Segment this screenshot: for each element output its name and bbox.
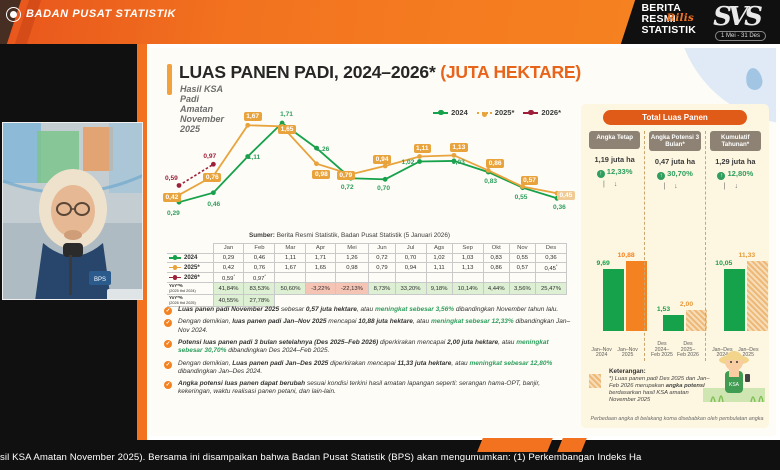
legend-label: 2024	[451, 108, 468, 117]
bullet-text: Dengan demikian, Luas panen padi Jan–Des…	[178, 360, 573, 376]
bullet-segment: , atau	[498, 339, 516, 346]
table-cell: 0,59*	[213, 273, 244, 283]
keterangan-segment: angka potensi	[666, 383, 705, 389]
chart-label-2026-Feb: 0,97	[203, 153, 216, 160]
bar-axis-label: Jan–Nov2024	[590, 348, 614, 359]
water-drop-icon	[744, 67, 764, 91]
table-yoy-cell	[395, 295, 426, 307]
brs-wordmark: BERITA RESMI STATISTIK Rilis	[642, 3, 697, 36]
source-note: Sumber: Berita Resmi Statistik, Badan Pu…	[249, 232, 450, 239]
total-column: Kumulatif Tahunan*1,29 juta ha↑12,80%|↓1…	[705, 131, 765, 361]
slide-content: LUAS PANEN PADI, 2024–2026* (JUTA HEKTAR…	[149, 48, 776, 436]
bullet-segment: diperkirakan mencapai	[328, 360, 397, 367]
table-cell: 0,79	[369, 263, 395, 273]
bar-axis-labels: Jan–Nov2024Jan–Nov2025	[585, 348, 644, 359]
bar-group: 9,6910,88	[593, 259, 637, 331]
bullet-segment: , atau	[413, 318, 431, 325]
column-connector-ticks: |↓	[706, 183, 765, 190]
legend-item-2025: 2025*	[477, 108, 515, 117]
table-col-header: Jul	[395, 244, 426, 254]
table-cell	[426, 273, 452, 283]
table-yoy-row: YoY*%(2026 thd 2025)40,55%27,78%	[167, 295, 567, 307]
column-connector-ticks: |↓	[585, 181, 644, 188]
table-yoy-cell: 83,53%	[244, 283, 275, 295]
chart-label-2025-Apr: 1,65	[278, 125, 296, 134]
table-yoy-cell: 41,84%	[213, 283, 244, 295]
total-columns: Angka Tetap1,19 juta ha↑12,33%|↓9,6910,8…	[585, 131, 765, 361]
table-yoy-cell	[509, 295, 535, 307]
table-yoy-label: YoY*%(2025 thd 2024)	[167, 283, 213, 295]
table-cell	[335, 273, 369, 283]
chart-legend: 20242025*2026*	[429, 106, 565, 119]
chart-label-2024-Mei: 1,26	[316, 146, 329, 153]
table-yoy-cell: 25,47%	[535, 283, 566, 295]
chart-label-2024-Jun: 0,72	[341, 184, 354, 191]
column-bar-chart: 1,532,00	[645, 259, 704, 331]
table-cell	[275, 273, 306, 283]
table-cell: 0,98	[335, 263, 369, 273]
date-badge: 1 Mei - 31 Des	[715, 31, 766, 41]
arrow-up-icon: ↑	[717, 172, 725, 180]
table-col-header: Apr	[306, 244, 335, 254]
bps-logo-icon	[6, 7, 21, 22]
column-bar-chart: 10,0511,33	[706, 259, 765, 331]
chart-label-2025-Okt: 0,86	[486, 159, 504, 168]
bar-value-label: 2,00	[680, 301, 693, 308]
column-header: Kumulatif Tahunan*	[710, 131, 761, 151]
bullet-segment: mencapai	[327, 318, 359, 325]
table-yoy-cell	[335, 295, 369, 307]
table-cell: 1,11	[426, 263, 452, 273]
total-column: Angka Potensi 3 Bulan*0,47 juta ha↑30,70…	[644, 131, 704, 361]
bullet-segment: dibandingkan Jan–Des 2024.	[178, 368, 262, 375]
table-col-header: Nov	[509, 244, 535, 254]
banner-orange-block	[0, 0, 660, 44]
bullet-segment: dibandingkan Des 2024–Feb 2025.	[226, 347, 329, 354]
table-cell	[306, 273, 335, 283]
bullet-segment: sebesar	[279, 306, 306, 313]
bullet-segment: luas panen padi Jan–Nov 2025	[232, 318, 326, 325]
chart-label-2024-Okt: 0,83	[484, 178, 497, 185]
table-yoy-cell	[369, 295, 395, 307]
keterangan-segment: berdasarkan hasil KSA amatan November 20…	[609, 390, 689, 403]
column-connector-ticks: |↓	[645, 183, 704, 190]
svs-logo-icon: SVS	[710, 4, 762, 30]
source-label: Sumber:	[249, 232, 275, 239]
table-cell: 1,65	[306, 263, 335, 273]
table-yoy-cell: -22,13%	[335, 283, 369, 295]
column-bar-chart: 9,6910,88	[585, 259, 644, 331]
chart-label-2025-Jul: 0,94	[373, 155, 391, 164]
legend-swatch-icon	[477, 112, 492, 114]
check-icon: ✓	[164, 319, 172, 327]
bullet-segment: 2,00 juta hektare	[447, 339, 498, 346]
table-body: 20240,290,461,111,711,260,720,701,021,03…	[167, 253, 567, 307]
arrow-up-icon: ↑	[597, 170, 605, 178]
presentation-slide: LUAS PANEN PADI, 2024–2026* (JUTA HEKTAR…	[145, 44, 780, 440]
check-icon: ✓	[164, 361, 172, 369]
list-item: ✓Dengan demikian, Luas panen padi Jan–De…	[163, 360, 573, 376]
bullet-text: Luas panen padi November 2025 sebesar 0,…	[178, 306, 573, 314]
speaker-video-feed[interactable]: BPS	[2, 122, 143, 300]
source-text: Berita Resmi Statistik, Badan Pusat Stat…	[277, 232, 450, 239]
data-table: JanFebMarAprMeiJunJulAgsSepOktNovDes 202…	[167, 243, 567, 307]
table-yoy-cell: 4,44%	[483, 283, 509, 295]
table-row: 2025*0,420,761,671,650,980,790,941,111,1…	[167, 263, 567, 273]
bar-value-label: 10,05	[715, 260, 732, 267]
chart-label-2024-Ags: 1,02	[402, 159, 415, 166]
bullet-segment: Potensi luas panen padi 3 bulan setelahn…	[178, 339, 378, 346]
panel-footnote: Perbedaan angka di belakang koma disebab…	[589, 416, 765, 422]
bullet-segment: Angka potensi luas panen dapat berubah	[178, 380, 305, 387]
chart-label-2025-Ags: 1,11	[414, 144, 431, 153]
table-yoy-row: YoY*%(2025 thd 2024)41,84%83,53%50,60%-3…	[167, 283, 567, 295]
chart-label-2025-Nov: 0,57	[521, 176, 539, 185]
bar-group: 1,532,00	[653, 259, 697, 331]
table-cell: 1,71	[306, 253, 335, 263]
table-col-header: Ags	[426, 244, 452, 254]
bullet-segment: , atau	[451, 360, 469, 367]
organization-name: BADAN PUSAT STATISTIK	[26, 8, 176, 20]
keterangan-text: *) Luas panen padi Des 2025 dan Jan–Feb …	[609, 376, 717, 404]
chart-canvas	[167, 104, 567, 232]
table-col-header: Mar	[275, 244, 306, 254]
table-yoy-cell	[452, 295, 483, 307]
line-chart: 20242025*2026* 0,290,461,111,711,260,720…	[167, 104, 567, 232]
table-cell: 1,02	[426, 253, 452, 263]
svg-text:BPS: BPS	[94, 277, 106, 283]
table-yoy-cell: 3,56%	[509, 283, 535, 295]
table-cell: 0,86	[483, 263, 509, 273]
chart-label-2024-Nov: 0,55	[515, 194, 528, 201]
title-main-text: LUAS PANEN PADI, 2024–2026*	[179, 62, 440, 82]
total-column: Angka Tetap1,19 juta ha↑12,33%|↓9,6910,8…	[585, 131, 644, 361]
column-percent: ↑30,70%	[645, 169, 704, 180]
bullet-segment: Dengan demikian,	[178, 318, 232, 325]
list-item: ✓Luas panen padi November 2025 sebesar 0…	[163, 306, 573, 314]
video-frame-content: BPS	[3, 123, 143, 300]
column-percent: ↑12,33%	[585, 167, 644, 178]
list-item: ✓Potensi luas panen padi 3 bulan setelah…	[163, 339, 573, 355]
bar-axis-label: Jan–Nov2025	[616, 348, 640, 359]
table-row: 2026*0,59*0,97*	[167, 273, 567, 283]
title-highlight-text: (JUTA HEKTARE)	[440, 62, 581, 82]
list-item: ✓Angka potensi luas panen dapat berubah …	[163, 380, 573, 396]
legend-item-2024: 2024	[433, 108, 468, 117]
table-row-label: 2026*	[167, 273, 213, 283]
check-icon: ✓	[164, 307, 172, 315]
table-cell: 1,03	[452, 253, 483, 263]
table-cell: 0,83	[483, 253, 509, 263]
bullet-segment: dibandingkan November tahun lalu.	[454, 306, 558, 313]
bar-group: 10,0511,33	[713, 259, 757, 331]
table-yoy-cell: 27,78%	[244, 295, 275, 307]
table-cell: 0,94	[395, 263, 426, 273]
column-value: 0,47 juta ha	[645, 157, 704, 166]
bar: 9,69	[593, 269, 614, 331]
total-panel: Total Luas Panen Angka Tetap1,19 juta ha…	[581, 104, 769, 428]
top-banner: BADAN PUSAT STATISTIK BERITA RESMI STATI…	[0, 0, 780, 44]
legend-label: 2026*	[541, 108, 561, 117]
bullet-text: Angka potensi luas panen dapat berubah s…	[178, 380, 573, 396]
bullet-segment: Dengan demikian,	[178, 360, 232, 367]
legend-swatch-icon	[523, 112, 538, 114]
table-col-header: Sep	[452, 244, 483, 254]
table-col-header: Jan	[213, 244, 244, 254]
table-cell: 0,55	[509, 253, 535, 263]
table-yoy-cell	[483, 295, 509, 307]
left-dark-block-top	[0, 44, 145, 122]
chart-label-2024-Mar: 1,11	[248, 154, 260, 161]
table-row: 20240,290,461,111,711,260,720,701,021,03…	[167, 253, 567, 263]
table-cell: 0,46	[244, 253, 275, 263]
bar-axis-label: Des2024– Feb 2025	[650, 342, 674, 359]
check-icon: ✓	[164, 340, 172, 348]
bar-value-label: 1,53	[657, 306, 670, 313]
bar-value-label: 9,69	[597, 260, 610, 267]
bullet-segment: meningkat sebesar 12,33%	[431, 318, 514, 325]
table-yoy-cell	[535, 295, 566, 307]
bottom-ticker: sil KSA Amatan November 2025). Bersama i…	[0, 440, 780, 470]
table-yoy-cell: 9,18%	[426, 283, 452, 295]
brs-line-3: STATISTIK	[642, 25, 697, 36]
table-header-row: JanFebMarAprMeiJunJulAgsSepOktNovDes	[167, 244, 567, 254]
list-item: ✓Dengan demikian, luas panen padi Jan–No…	[163, 318, 573, 334]
table-col-header: Mei	[335, 244, 369, 254]
table-col-header: Okt	[483, 244, 509, 254]
chart-label-2026-Jan: 0,59	[165, 175, 178, 182]
ticker-accent-2	[557, 438, 587, 452]
table-yoy-cell: 8,73%	[369, 283, 395, 295]
column-value: 1,29 juta ha	[706, 157, 765, 166]
table-cell	[452, 273, 483, 283]
table-cell	[483, 273, 509, 283]
column-header: Angka Potensi 3 Bulan*	[649, 131, 700, 151]
bar-axis-labels: Des2024– Feb 2025Des2025– Feb 2026	[645, 342, 704, 359]
table-yoy-cell: -3,22%	[306, 283, 335, 295]
chart-label-2024-Des: 0,36	[553, 204, 566, 211]
bullet-segment: meningkat sebesar 3,56%	[375, 306, 454, 313]
table-cell: 1,26	[335, 253, 369, 263]
chart-label-2024-Apr: 1,71	[280, 111, 293, 118]
check-icon: ✓	[164, 381, 172, 389]
chart-label-2025-Mar: 1,67	[244, 112, 262, 121]
chart-label-2025-Jan: 0,42	[163, 193, 181, 202]
table-yoy-cell: 33,20%	[395, 283, 426, 295]
table-cell	[369, 273, 395, 283]
hatch-swatch-icon	[589, 374, 601, 388]
chart-label-2025-Des: 0,45	[557, 191, 575, 200]
bullet-segment: 0,57 juta hektare	[306, 306, 357, 313]
bullet-text: Dengan demikian, luas panen padi Jan–Nov…	[178, 318, 573, 334]
bullet-segment: Luas panen padi Jan–Des 2025	[232, 360, 328, 367]
bullet-segment: , atau	[357, 306, 375, 313]
table-yoy-cell: 10,14%	[452, 283, 483, 295]
farmer-illustration: KSA	[703, 348, 765, 402]
table-corner-cell	[167, 244, 213, 254]
table-col-header: Des	[535, 244, 566, 254]
table-cell: 0,57	[509, 263, 535, 273]
table-yoy-cell	[306, 295, 335, 307]
bullet-segment: 11,33 juta hektare	[397, 360, 451, 367]
table-cell: 0,42	[213, 263, 244, 273]
legend-item-2026: 2026*	[523, 108, 561, 117]
total-panel-title: Total Luas Panen	[603, 110, 747, 125]
ticker-accent-1	[477, 438, 553, 452]
chart-label-2024-Feb: 0,46	[207, 201, 220, 208]
bullet-segment: Luas panen padi November 2025	[178, 306, 279, 313]
bar-value-label: 10,88	[618, 252, 635, 259]
bar-fill	[747, 261, 768, 331]
bar: 1,53	[653, 315, 674, 331]
chart-label-2025-Jun: 0,79	[337, 171, 355, 180]
table-cell: 0,72	[369, 253, 395, 263]
table-row-label: 2025*	[167, 263, 213, 273]
chart-label-2024-Jul: 0,70	[377, 185, 390, 192]
screen-root: BADAN PUSAT STATISTIK BERITA RESMI STATI…	[0, 0, 780, 470]
bar: 11,33	[736, 261, 757, 331]
bullet-segment: 10,88 juta hektare	[358, 318, 413, 325]
bar-value-label: 11,33	[738, 252, 755, 259]
table-col-header: Feb	[244, 244, 275, 254]
chart-label-2025-Feb: 0,76	[203, 173, 221, 182]
bar: 10,88	[616, 261, 637, 331]
bullet-list: ✓Luas panen padi November 2025 sebesar 0…	[163, 306, 573, 401]
legend-swatch-icon	[433, 112, 448, 114]
ticker-text: sil KSA Amatan November 2025). Bersama i…	[0, 452, 780, 463]
bar: 10,05	[713, 269, 734, 331]
table-cell: 0,70	[395, 253, 426, 263]
table-cell	[395, 273, 426, 283]
table-cell	[509, 273, 535, 283]
bullet-segment: meningkat sebesar 12,80%	[469, 360, 552, 367]
column-value: 1,19 juta ha	[585, 155, 644, 164]
table-cell: 1,67	[275, 263, 306, 273]
brs-script-text: Rilis	[666, 13, 694, 24]
bullet-text: Potensi luas panen padi 3 bulan setelahn…	[178, 339, 573, 355]
chart-label-2025-Sep: 1,13	[450, 143, 468, 152]
table-cell: 0,97*	[244, 273, 275, 283]
table-cell: 0,76	[244, 263, 275, 273]
title-accent-bar	[167, 64, 172, 95]
bullet-segment: diperkirakan mencapai	[378, 339, 447, 346]
table-cell: 0,36	[535, 253, 566, 263]
table-cell: 0,29	[213, 253, 244, 263]
table-yoy-cell: 50,60%	[275, 283, 306, 295]
legend-label: 2025*	[495, 108, 515, 117]
table-yoy-cell	[426, 295, 452, 307]
page-title: LUAS PANEN PADI, 2024–2026* (JUTA HEKTAR…	[179, 62, 581, 83]
table-cell	[535, 273, 566, 283]
chart-label-2024-Jan: 0,29	[167, 210, 180, 217]
chart-label-2024-Sep: 1,03	[452, 159, 465, 166]
table-col-header: Jun	[369, 244, 395, 254]
table-cell: 1,13	[452, 263, 483, 273]
svg-text:KSA: KSA	[729, 382, 740, 388]
chart-label-2025-Mei: 0,98	[312, 170, 330, 179]
column-header: Angka Tetap	[589, 131, 640, 149]
table-yoy-cell	[275, 295, 306, 307]
table-cell: 1,11	[275, 253, 306, 263]
table-cell: 0,45*	[535, 263, 566, 273]
arrow-up-icon: ↑	[657, 172, 665, 180]
column-percent: ↑12,80%	[706, 169, 765, 180]
table-yoy-label: YoY*%(2026 thd 2025)	[167, 295, 213, 307]
table-row-label: 2024	[167, 253, 213, 263]
bar-axis-label: Des2025– Feb 2026	[676, 342, 700, 359]
bar: 2,00	[676, 310, 697, 331]
table-yoy-cell: 40,55%	[213, 295, 244, 307]
table-head: JanFebMarAprMeiJunJulAgsSepOktNovDes	[167, 244, 567, 254]
left-dark-block-bottom	[0, 300, 145, 440]
